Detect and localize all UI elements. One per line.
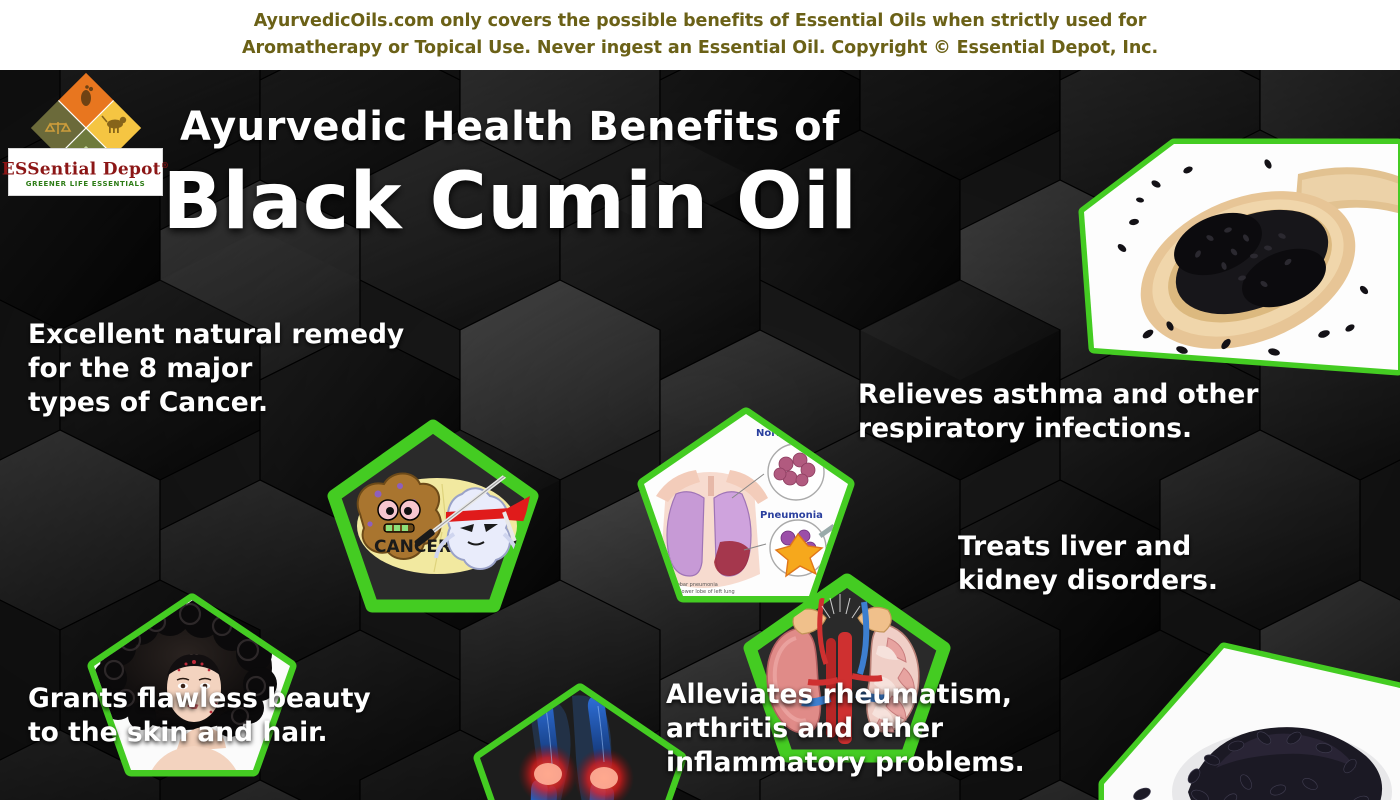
- photo-seed-pile: [1096, 642, 1400, 800]
- registered-mark: ®: [161, 160, 169, 170]
- svg-text:Pneumonia: Pneumonia: [760, 510, 823, 521]
- wooden-spoon-black-cumin-seeds-photo: [1078, 138, 1400, 380]
- benefit-badge-rheumatism[interactable]: [468, 682, 692, 800]
- svg-text:Normal alveoli: Normal alveoli: [756, 428, 837, 439]
- svg-text:in lower lobe of left lung: in lower lobe of left lung: [674, 589, 735, 595]
- disclaimer-banner: AyurvedicOils.com only covers the possib…: [0, 0, 1400, 70]
- black-cumin-seeds-pile-photo: [1096, 642, 1400, 800]
- photo-spoon-seeds: [1078, 138, 1400, 380]
- legs-knee-joint-pain-xray: [468, 682, 692, 800]
- benefit-text-asthma: Relieves asthma and other respiratory in…: [858, 378, 1298, 446]
- disclaimer-line-2: Aromatherapy or Topical Use. Never inges…: [242, 35, 1158, 62]
- benefit-text-cancer: Excellent natural remedy for the 8 major…: [28, 318, 448, 420]
- brand-logo[interactable]: ESSential Depot® GREENER LIFE ESSENTIALS: [8, 72, 168, 212]
- brand-name: ESSential Depot®: [2, 156, 169, 179]
- svg-text:Lobar pneumonia: Lobar pneumonia: [674, 582, 718, 588]
- brand-tagline: GREENER LIFE ESSENTIALS: [26, 180, 146, 188]
- cancer-cell-ninja-illustration: CANCER: [322, 418, 544, 614]
- brand-name-plate: ESSential Depot® GREENER LIFE ESSENTIALS: [8, 148, 163, 196]
- infographic-root: AyurvedicOils.com only covers the possib…: [0, 0, 1400, 800]
- benefit-badge-cancer[interactable]: CANCER: [322, 418, 544, 614]
- disclaimer-line-1: AyurvedicOils.com only covers the possib…: [254, 8, 1147, 35]
- benefit-text-beauty: Grants flawless beauty to the skin and h…: [28, 682, 408, 750]
- benefit-text-rheumatism: Alleviates rheumatism, arthritis and oth…: [666, 678, 1066, 780]
- brand-name-text: ESSential Depot: [2, 160, 161, 180]
- benefit-text-liver-kidney: Treats liver and kidney disorders.: [958, 530, 1288, 598]
- infographic-canvas: ESSential Depot® GREENER LIFE ESSENTIALS…: [0, 70, 1400, 800]
